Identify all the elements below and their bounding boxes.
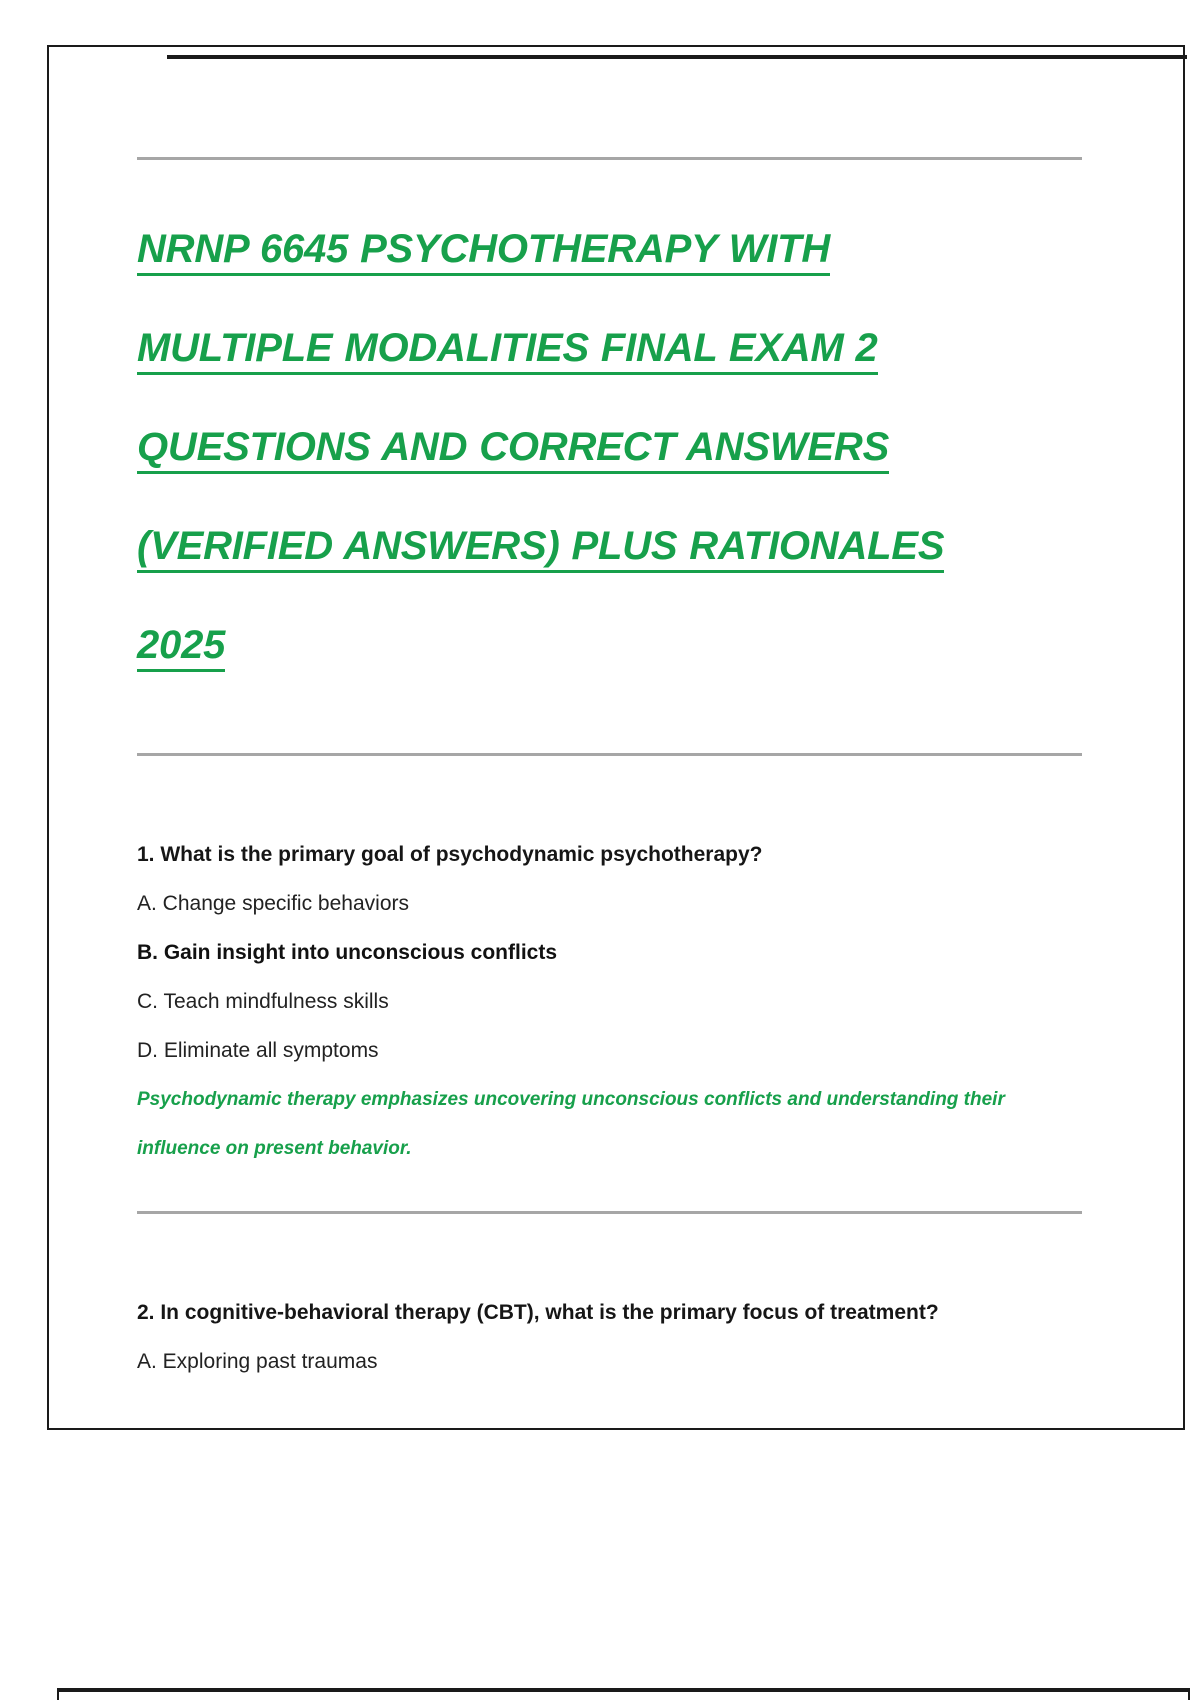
- question-block-1: 1. What is the primary goal of psychodyn…: [137, 830, 1092, 1173]
- page-content: NRNP 6645 PSYCHOTHERAPY WITH MULTIPLE MO…: [137, 157, 1092, 1386]
- question-1-option-b[interactable]: B. Gain insight into unconscious conflic…: [137, 928, 1092, 977]
- question-1-divider-wrap: [137, 1173, 1092, 1214]
- question-1-option-d[interactable]: D. Eliminate all symptoms: [137, 1026, 1092, 1075]
- question-1-stem: 1. What is the primary goal of psychodyn…: [137, 830, 1017, 879]
- question-1-rationale: Psychodynamic therapy emphasizes uncover…: [137, 1075, 1017, 1173]
- title-line-4: (VERIFIED ANSWERS) PLUS RATIONALES: [137, 524, 944, 573]
- title-line-2: MULTIPLE MODALITIES FINAL EXAM 2: [137, 326, 878, 375]
- question-2-option-a[interactable]: A. Exploring past traumas: [137, 1337, 1092, 1386]
- title-line-1: NRNP 6645 PSYCHOTHERAPY WITH: [137, 227, 830, 276]
- question-1-option-c[interactable]: C. Teach mindfulness skills: [137, 977, 1092, 1026]
- title-line-5: 2025: [137, 623, 225, 672]
- title-line-3: QUESTIONS AND CORRECT ANSWERS: [137, 425, 889, 474]
- document-page: NRNP 6645 PSYCHOTHERAPY WITH MULTIPLE MO…: [47, 45, 1185, 1430]
- question-2-spacer: [137, 1214, 1092, 1288]
- question-block-2: 2. In cognitive-behavioral therapy (CBT)…: [137, 1288, 1092, 1386]
- title-spacer: [137, 695, 1092, 753]
- question-1-option-a[interactable]: A. Change specific behaviors: [137, 879, 1092, 928]
- question-2-stem: 2. In cognitive-behavioral therapy (CBT)…: [137, 1288, 1017, 1337]
- page-top-rule: [167, 55, 1187, 59]
- document-title: NRNP 6645 PSYCHOTHERAPY WITH MULTIPLE MO…: [137, 200, 1037, 695]
- question-1-spacer: [137, 756, 1092, 830]
- title-top-divider: [137, 157, 1082, 160]
- next-document-page: [57, 1688, 1190, 1700]
